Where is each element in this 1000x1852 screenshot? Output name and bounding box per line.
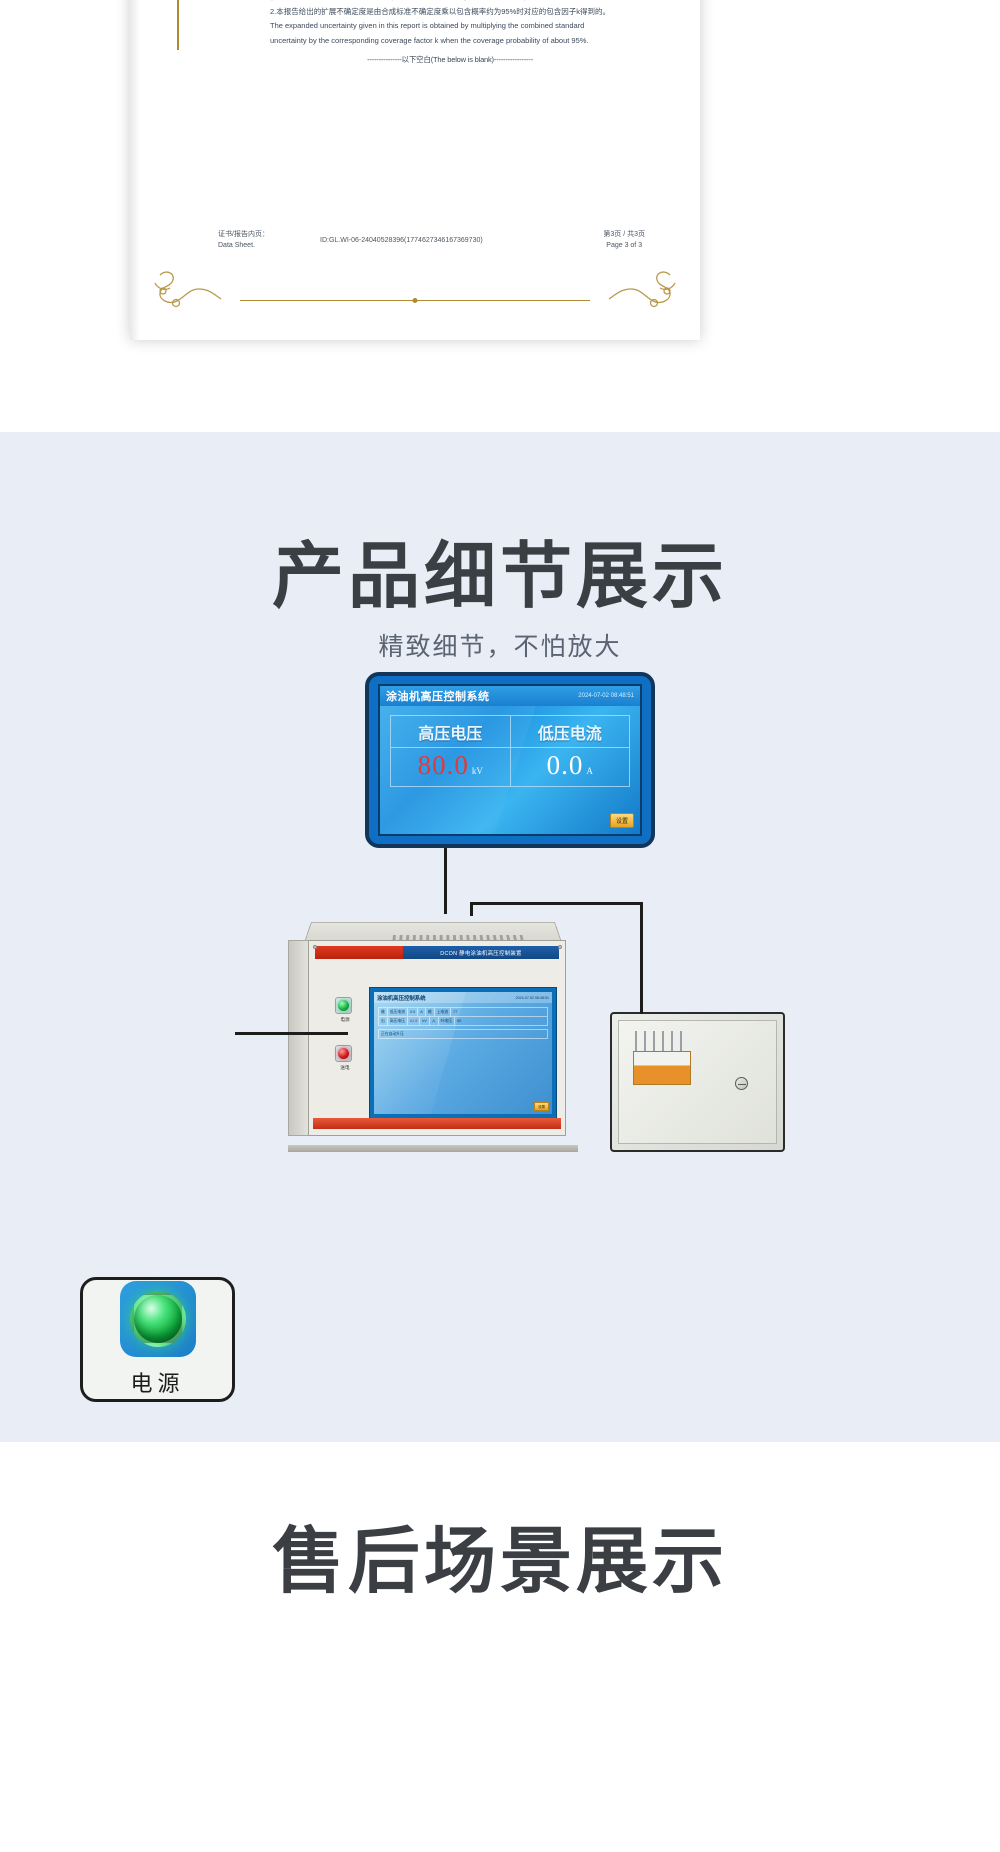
device-power-lamp-caption: 电源 — [330, 1017, 360, 1023]
ornament-flourish-right-icon — [608, 267, 678, 318]
certificate-footer-label: 证书/报告内页： Data Sheet. — [218, 229, 269, 251]
certificate-page-en: Page 3 of 3 — [603, 240, 645, 251]
device-hmi-title-bar: 涂油机高压控制系统 2024-07-02 08:48:51 — [374, 992, 552, 1003]
table-row: 出 高压电压 61.9 kV 入 叶电压 50 — [378, 1016, 548, 1026]
certificate-note-en-2: uncertainty by the corresponding coverag… — [270, 34, 630, 49]
device-hmi-data-grid: 输 低压电流 0.0 A 输 上电流 77 出 高压电压 61.9 — [378, 1007, 548, 1026]
product-detail-subtitle: 精致细节，不怕放大 — [0, 627, 1000, 663]
hmi-screen[interactable]: 涂油机高压控制系统 2024-07-02 08:48:51 高压电压 80.0 … — [378, 684, 642, 836]
certificate-divider — [240, 300, 590, 301]
device-embedded-hmi[interactable]: 涂油机高压控制系统 2024-07-02 08:48:51 输 低压电流 0.0… — [369, 987, 557, 1119]
leader-line-hmi-to-device — [444, 848, 447, 914]
terminal-box-door — [618, 1020, 777, 1144]
certificate-footer-label-en: Data Sheet. — [218, 240, 269, 251]
callout-power-caption: 电源 — [130, 1366, 184, 1398]
certificate-footer-page: 第3页 / 共3页 Page 3 of 3 — [603, 229, 645, 251]
device-screw-icon — [313, 945, 317, 949]
device-hmi-row1-c5: 50 — [455, 1017, 463, 1025]
device-hmi-row1-c2: kV — [420, 1017, 429, 1025]
green-lamp-bulb-icon — [338, 1000, 349, 1011]
hmi-meter-high-voltage-value: 80.0 — [418, 750, 469, 781]
device-hmi-title: 涂油机高压控制系统 — [377, 994, 426, 1002]
device-hmi-row0-c3: 输 — [426, 1008, 435, 1016]
certificate-blank-marker: ---------------以下空白(The below is blank)-… — [270, 53, 630, 68]
callout-power-lamp: 电源 — [80, 1277, 235, 1402]
leader-line-terminal-stub — [470, 902, 473, 916]
hmi-touch-panel[interactable]: 涂油机高压控制系统 2024-07-02 08:48:51 高压电压 80.0 … — [365, 672, 655, 848]
red-lamp-bulb-icon — [338, 1048, 349, 1059]
hmi-meter-low-current-label: 低压电流 — [511, 716, 630, 748]
hmi-title: 涂油机高压控制系统 — [386, 688, 490, 704]
device-hmi-row0-c0: 低压电流 — [388, 1008, 408, 1016]
certificate-section: (JJF 1059.1-2012 Evaluation and Expressi… — [0, 0, 1000, 432]
green-indicator-lamp-icon — [130, 1291, 186, 1347]
certificate-body-text: (JJF 1059.1-2012 Evaluation and Expressi… — [270, 0, 630, 68]
terminal-block-strip — [633, 1051, 691, 1085]
hmi-title-bar: 涂油机高压控制系统 2024-07-02 08:48:51 — [380, 686, 640, 706]
after-sales-title: 售后场景展示 — [0, 1502, 1000, 1607]
hmi-meter-low-current-unit: A — [586, 766, 593, 776]
terminal-junction-box — [610, 1012, 785, 1152]
device-power-indicator-lamp[interactable]: 电源 — [335, 997, 352, 1014]
device-hmi-row1-c0: 高压电压 — [388, 1017, 408, 1025]
device-hmi-row0-c1: 0.0 — [408, 1008, 418, 1016]
leader-line-terminal-horizontal — [470, 902, 642, 905]
terminal-box-latch-knob[interactable] — [735, 1077, 748, 1090]
certificate-footer-label-cn: 证书/报告内页： — [218, 229, 269, 240]
certificate-footer-id: ID:GL.WI-06-24040528396(1774627346167369… — [320, 235, 483, 246]
device-hmi-row1-c1: 61.9 — [408, 1017, 420, 1025]
device-hmi-row0-c2: A — [418, 1008, 426, 1016]
product-detail-section: 产品细节展示 精致细节，不怕放大 涂油机高压控制系统 2024-07-02 08… — [0, 432, 1000, 1442]
hmi-settings-button[interactable]: 设置 — [610, 813, 634, 828]
certificate-note-cn: 2.本报告给出的扩展不确定度是由合成标准不确定度乘以包含概率约为95%时对应的包… — [270, 5, 630, 20]
device-hmi-timestamp: 2024-07-02 08:48:51 — [516, 996, 549, 1000]
device-hmi-row1-c4: 叶电压 — [439, 1017, 455, 1025]
device-red-accent-bar — [315, 946, 403, 959]
device-embedded-hmi-screen[interactable]: 涂油机高压控制系统 2024-07-02 08:48:51 输 低压电流 0.0… — [374, 992, 552, 1114]
hmi-meter-low-current: 低压电流 0.0 A — [510, 716, 630, 786]
hmi-meter-group: 高压电压 80.0 kV 低压电流 0.0 A — [390, 715, 630, 787]
device-left-side-panel — [288, 940, 310, 1136]
ornament-flourish-left-icon — [152, 267, 222, 318]
leader-line-power-horizontal — [235, 1032, 348, 1035]
after-sales-section: 售后场景展示 — [0, 1442, 1000, 1852]
device-send-lamp-caption: 送电 — [330, 1065, 360, 1071]
hmi-meter-high-voltage: 高压电压 80.0 kV — [391, 716, 510, 786]
leader-line-terminal-vertical — [640, 902, 643, 1014]
device-nameplate: DCON 静电涂油机高压控制装置 — [403, 946, 559, 959]
device-send-power-indicator-lamp[interactable]: 送电 — [335, 1045, 352, 1062]
device-hmi-row0-c5: 77 — [451, 1008, 459, 1016]
device-screw-icon — [558, 945, 562, 949]
device-hmi-status-text: 正在自动升压 — [378, 1029, 548, 1039]
certificate-left-rule — [177, 0, 179, 50]
hmi-meter-high-voltage-unit: kV — [472, 766, 483, 776]
hmi-timestamp: 2024-07-02 08:48:51 — [578, 693, 634, 699]
device-hmi-row0-c4: 上电流 — [435, 1008, 451, 1016]
hmi-meter-high-voltage-label: 高压电压 — [391, 716, 510, 748]
device-front-panel: DCON 静电涂油机高压控制装置 电源 送电 涂油机高压控制系统 2024-07… — [308, 940, 566, 1136]
device-hmi-row1-c3: 入 — [430, 1017, 439, 1025]
device-bottom-red-bar — [313, 1118, 561, 1129]
callout-power-lamp-plate — [120, 1281, 196, 1357]
certificate-page-cn: 第3页 / 共3页 — [603, 229, 645, 240]
device-base-foot — [288, 1145, 578, 1152]
device-hmi-settings-button[interactable]: 设置 — [534, 1102, 549, 1111]
device-hmi-row1-group: 出 — [379, 1017, 388, 1025]
certificate-page: (JJF 1059.1-2012 Evaluation and Expressi… — [130, 0, 700, 340]
hmi-meter-low-current-value: 0.0 — [547, 750, 584, 781]
certificate-note-en-1: The expanded uncertainty given in this r… — [270, 19, 630, 34]
table-row: 输 低压电流 0.0 A 输 上电流 77 — [378, 1007, 548, 1016]
product-detail-title: 产品细节展示 — [0, 517, 1000, 622]
device-hmi-row0-group: 输 — [379, 1008, 388, 1016]
